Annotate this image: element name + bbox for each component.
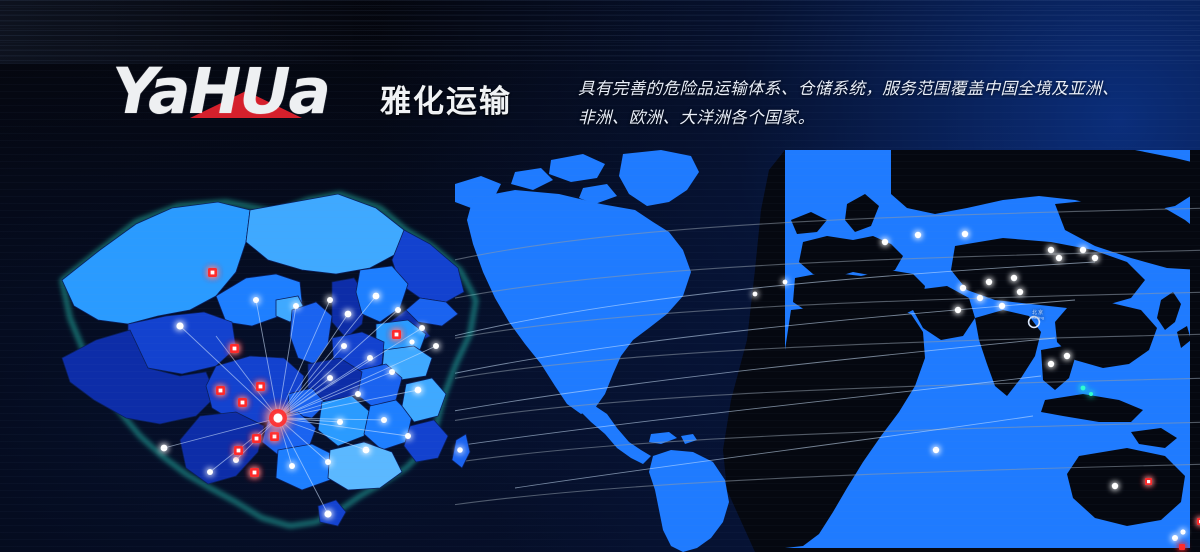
brand-chinese-name: 雅化运输: [380, 76, 512, 126]
world-map: [455, 150, 1200, 552]
wordmark-text: YaHUa: [112, 60, 329, 124]
china-provinces: [62, 194, 470, 526]
wordmark: YaHUa: [112, 62, 362, 126]
hero-tagline: 具有完善的危险品运输体系、仓储系统，服务范围覆盖中国全境及亚洲、非洲、欧洲、大洋…: [578, 74, 1126, 132]
hero-banner: YaHUa 雅化运输 具有完善的危险品运输体系、仓储系统，服务范围覆盖中国全境及…: [0, 0, 1200, 552]
china-map: [40, 150, 520, 550]
china-hub-marker: [269, 409, 287, 427]
brand-logo[interactable]: YaHUa 雅化运输: [112, 62, 512, 126]
